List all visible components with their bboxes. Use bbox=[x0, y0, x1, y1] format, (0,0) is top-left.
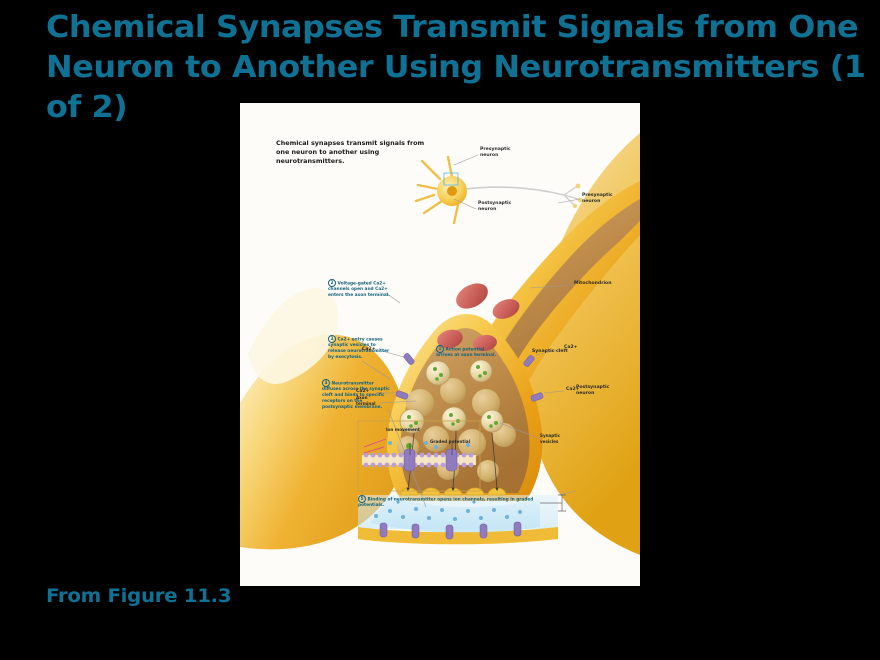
label-postsynaptic-neuron: Postsynaptic neuron bbox=[576, 385, 618, 397]
figure-caption: Chemical synapses transmit signals from … bbox=[276, 139, 426, 166]
step-number-4: 4 bbox=[322, 379, 330, 387]
label-axon-terminal: Axon terminal bbox=[356, 395, 386, 406]
step-number-3: 3 bbox=[328, 335, 336, 343]
label-inset-postsynaptic-neuron: Postsynaptic neuron bbox=[478, 201, 518, 213]
step-number-2: 2 bbox=[328, 279, 336, 287]
step-number-5: 5 bbox=[358, 495, 366, 503]
label-mitochondrion: Mitochondrion bbox=[574, 281, 626, 287]
step-text-1: Action potential arrives at axon termina… bbox=[436, 348, 496, 359]
figure-source-caption: From Figure 11.3 bbox=[46, 585, 231, 607]
label-presynaptic-neuron: Presynaptic neuron bbox=[582, 193, 624, 205]
step-number-1: 1 bbox=[436, 345, 444, 353]
label-graded-potential: Graded potential bbox=[430, 439, 470, 444]
label-synaptic-vesicles: Synaptic vesicles bbox=[540, 433, 570, 444]
step-callout-2: 2Voltage-gated Ca2+ channels open and Ca… bbox=[328, 279, 402, 299]
figure-panel: Chemical synapses transmit signals from … bbox=[240, 103, 640, 586]
step-callout-5: 5Binding of neurotransmitter opens ion c… bbox=[358, 495, 538, 509]
label-inset-presynaptic-neuron: Presynaptic neuron bbox=[480, 147, 520, 159]
step-text-5: Binding of neurotransmitter opens ion ch… bbox=[358, 498, 533, 509]
label-ion-movement: Ion movement bbox=[386, 427, 420, 432]
step-callout-1: 1Action potential arrives at axon termin… bbox=[436, 345, 500, 359]
step-text-2: Voltage-gated Ca2+ channels open and Ca2… bbox=[328, 282, 390, 299]
label-calcium-left-upper: Ca2+ bbox=[362, 347, 386, 353]
label-synaptic-cleft: Synaptic cleft bbox=[532, 349, 578, 355]
